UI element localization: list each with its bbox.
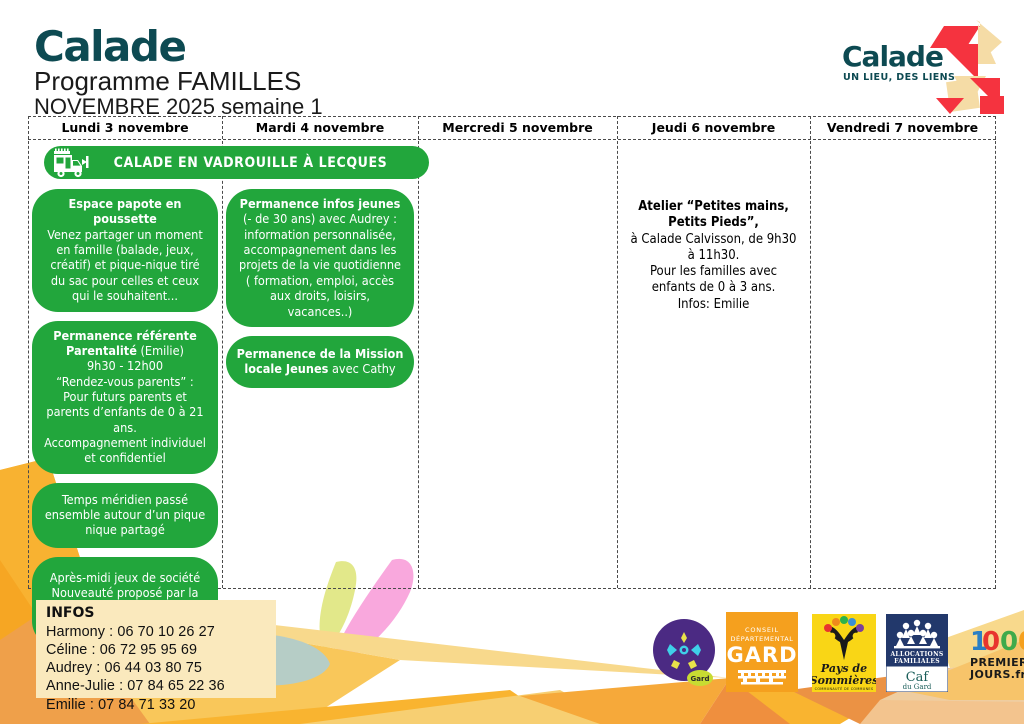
svg-text:0: 0 <box>1018 627 1024 657</box>
event-title: Espace papote en poussette <box>42 196 208 227</box>
logo-wordmark: Calade <box>842 40 943 73</box>
event-title: Permanence infos jeunes <box>236 196 404 211</box>
svg-text:Gard: Gard <box>691 675 710 683</box>
infos-contact-celine: Céline : 06 72 95 95 69 <box>46 641 276 659</box>
event-body: Temps méridien passé ensemble autour d’u… <box>42 492 208 538</box>
calendar-grid: Lundi 3 novembre Mardi 4 novembre Mercre… <box>28 116 996 588</box>
infos-box: INFOS Harmony : 06 70 10 26 27 Céline : … <box>36 600 276 698</box>
day-column-wednesday <box>418 139 617 588</box>
day-column-monday: Espace papote en poussette Venez partage… <box>28 139 222 588</box>
convention-departements-gard-logo: Gard <box>650 618 718 693</box>
infos-contact-audrey: Audrey : 06 44 03 80 75 <box>46 659 276 677</box>
event-title-suffix: avec Cathy <box>328 361 395 376</box>
brand-block: Calade Programme FAMILLES NOVEMBRE 2025 … <box>34 26 323 120</box>
event-card[interactable]: Permanence infos jeunes (- de 30 ans) av… <box>226 189 414 327</box>
event-body: Venez partager un moment en famille (bal… <box>42 227 208 304</box>
infos-contact-anne-julie: Anne-Julie : 07 84 65 22 36 <box>46 677 276 695</box>
column-header-friday: Vendredi 7 novembre <box>810 116 995 139</box>
infos-title: INFOS <box>46 605 276 623</box>
calade-logo: Calade UN LIEU, DES LIENS <box>828 10 1008 114</box>
page-title: Calade <box>34 26 323 67</box>
event-card[interactable]: Permanence de la Mission locale Jeunes a… <box>226 336 414 388</box>
day-column-tuesday: Permanence infos jeunes (- de 30 ans) av… <box>222 139 418 588</box>
logo-tagline: UN LIEU, DES LIENS <box>843 72 955 83</box>
column-header-wednesday: Mercredi 5 novembre <box>418 116 617 139</box>
event-title-suffix: (Emilie) <box>137 343 184 358</box>
event-card[interactable]: Temps méridien passé ensemble autour d’u… <box>32 483 218 548</box>
caf-du-gard-logo: ALLOCATIONS FAMILIALES Caf du Gard <box>886 614 948 697</box>
calendar-column-headers: Lundi 3 novembre Mardi 4 novembre Mercre… <box>28 116 996 139</box>
page-header: Calade Programme FAMILLES NOVEMBRE 2025 … <box>0 0 1024 116</box>
event-body: à Calade Calvisson, de 9h30 à 11h30. Pou… <box>627 232 800 313</box>
svg-text:0: 0 <box>1000 627 1018 657</box>
svg-text:0: 0 <box>982 627 1000 657</box>
conseil-departemental-gard-logo: CONSEIL DÉPARTEMENTAL GARD <box>726 612 798 697</box>
column-header-tuesday: Mardi 4 novembre <box>222 116 418 139</box>
column-header-monday: Lundi 3 novembre <box>28 116 222 139</box>
event-card[interactable]: Permanence référente Parentalité (Emilie… <box>32 321 218 474</box>
svg-text:JOURS.fr: JOURS.fr <box>969 668 1024 681</box>
pays-de-sommieres-logo: Pays de Sommières COMMUNAUTÉ DE COMMUNES <box>812 614 876 697</box>
event-title: Atelier “Petites mains, Petits Pieds”, <box>638 199 789 230</box>
programme-subtitle: Programme FAMILLES <box>34 68 323 95</box>
day-column-friday <box>810 139 995 588</box>
event-card[interactable]: Atelier “Petites mains, Petits Pieds”, à… <box>621 199 806 313</box>
1000-premiers-jours-logo: 1 0 0 0 PREMIERS JOURS.fr <box>962 626 1024 687</box>
column-header-thursday: Jeudi 6 novembre <box>617 116 810 139</box>
svg-text:ALLOCATIONS: ALLOCATIONS <box>889 651 943 658</box>
svg-text:FAMILIALES: FAMILIALES <box>894 658 940 665</box>
event-body: (- de 30 ans) avec Audrey : information … <box>236 211 404 319</box>
svg-text:Sommières: Sommières <box>812 674 876 687</box>
svg-text:DÉPARTEMENTAL: DÉPARTEMENTAL <box>730 634 793 643</box>
infos-contact-emilie: Emilie : 07 84 71 33 20 <box>46 696 276 714</box>
svg-text:GARD: GARD <box>726 643 797 667</box>
infos-contact-harmony: Harmony : 06 70 10 26 27 <box>46 623 276 641</box>
svg-text:du Gard: du Gard <box>903 683 932 691</box>
day-column-thursday: Atelier “Petites mains, Petits Pieds”, à… <box>617 139 810 588</box>
calendar-columns: Espace papote en poussette Venez partage… <box>28 139 996 588</box>
svg-text:COMMUNAUTÉ DE COMMUNES: COMMUNAUTÉ DE COMMUNES <box>815 686 874 691</box>
event-card[interactable]: Espace papote en poussette Venez partage… <box>32 189 218 312</box>
svg-text:CONSEIL: CONSEIL <box>745 626 779 634</box>
event-body: 9h30 - 12h00 “Rendez-vous parents” : Pou… <box>42 358 208 466</box>
partner-logos: Gard CONSEIL DÉPARTEMENTAL GARD <box>650 612 1016 698</box>
